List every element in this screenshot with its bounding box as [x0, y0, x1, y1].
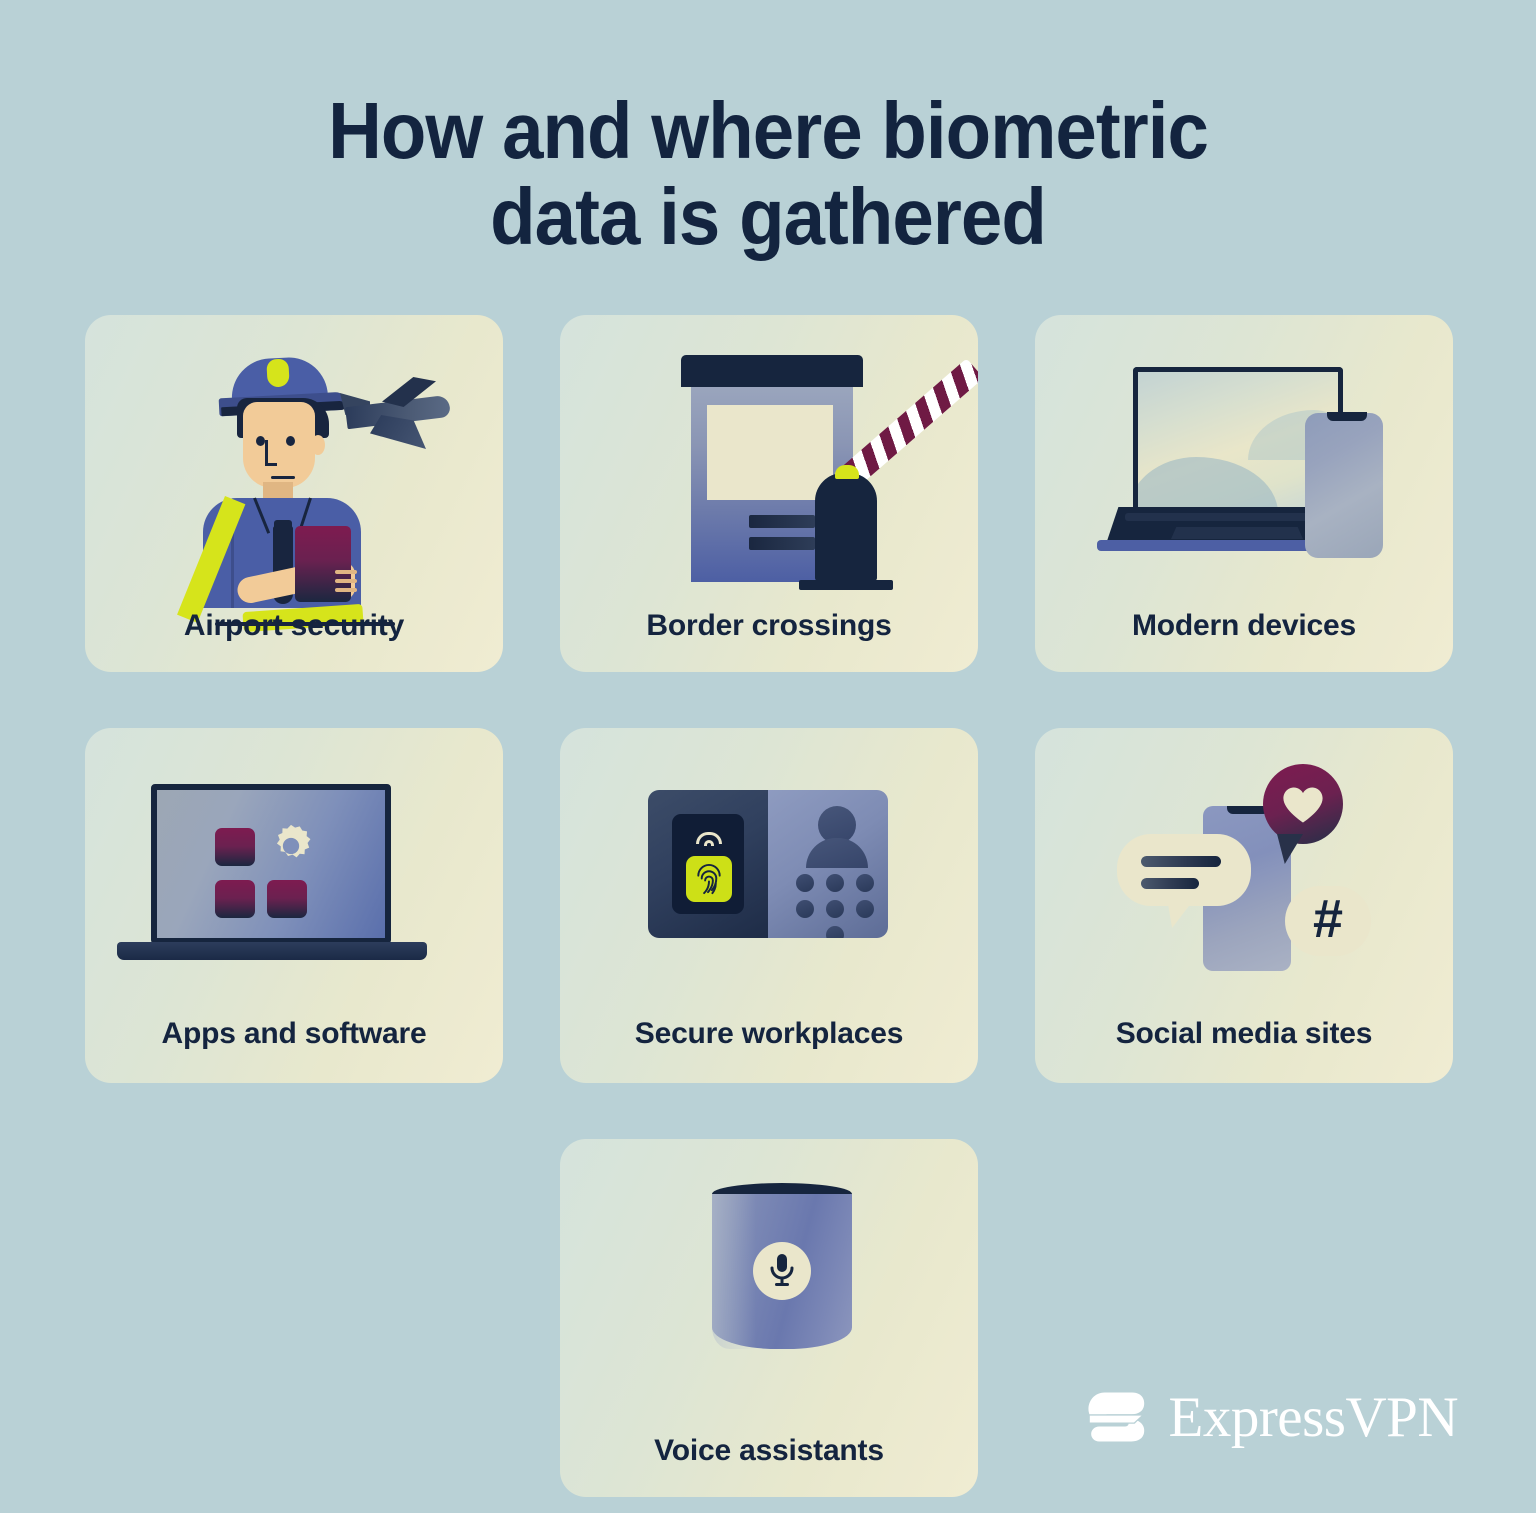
- eye-left: [256, 436, 265, 446]
- security-officer-airplane-icon: [85, 315, 503, 600]
- booth-slot-2: [749, 537, 815, 550]
- keypad-key[interactable]: [826, 926, 844, 938]
- card-secure-workplaces: Secure workplaces: [560, 728, 978, 1083]
- hashtag-bubble-icon: #: [1285, 886, 1371, 956]
- keypad-key[interactable]: [826, 874, 844, 892]
- panel-left-scanner: [648, 790, 768, 938]
- card-grid: Airport security Border crossings: [85, 315, 1455, 1497]
- chat-bubble-icon: [1117, 834, 1251, 906]
- app-tile-1: [215, 828, 255, 866]
- card-border-crossings: Border crossings: [560, 315, 978, 672]
- app-tile-2: [215, 880, 255, 918]
- devices-illustration: [1093, 367, 1403, 572]
- page-title-line-2: data is gathered: [54, 174, 1482, 260]
- card-voice-assistants: Voice assistants: [560, 1139, 978, 1497]
- panel-right-keypad: [768, 790, 888, 938]
- keypad[interactable]: [796, 874, 878, 926]
- card-social-media-sites: # Social media sites: [1035, 728, 1453, 1083]
- card-modern-devices: Modern devices: [1035, 315, 1453, 672]
- page-title-line-1: How and where biometric: [54, 88, 1482, 174]
- fingers: [335, 566, 359, 600]
- smart-speaker: [712, 1183, 852, 1358]
- card-airport-security: Airport security: [85, 315, 503, 672]
- app-tile-3: [267, 880, 307, 918]
- smart-speaker-microphone-icon: [560, 1139, 978, 1424]
- fingerprint-access-panel-icon: [560, 728, 978, 1013]
- scanner-surface: [672, 814, 744, 914]
- laptop-illustration: [117, 784, 472, 969]
- keypad-key[interactable]: [796, 874, 814, 892]
- barrier-light: [835, 465, 859, 479]
- laptop-trackpad: [1171, 527, 1303, 539]
- mouth: [271, 476, 295, 479]
- card-label: Modern devices: [1035, 609, 1453, 643]
- nose: [265, 440, 268, 466]
- booth-slot-1: [749, 515, 815, 528]
- person-body-icon: [806, 838, 868, 868]
- ear: [311, 435, 325, 455]
- border-booth: [677, 355, 867, 585]
- airplane-icon: [340, 373, 458, 453]
- access-control-panel: [648, 790, 888, 938]
- card-label: Apps and software: [85, 1017, 503, 1051]
- laptop-screen: [151, 784, 391, 944]
- smartphone: [1305, 413, 1383, 558]
- keypad-key[interactable]: [796, 900, 814, 918]
- expressvpn-logo: ExpressVPN: [1083, 1383, 1459, 1451]
- nfc-waves-icon: [694, 828, 724, 846]
- gear-icon: [267, 822, 315, 870]
- social-illustration: #: [1117, 764, 1377, 994]
- expressvpn-wordmark: ExpressVPN: [1169, 1385, 1459, 1450]
- keypad-key[interactable]: [856, 900, 874, 918]
- booth-window: [707, 405, 833, 500]
- card-label: Secure workplaces: [560, 1017, 978, 1051]
- cap-badge: [266, 358, 289, 387]
- fingerprint-icon: [686, 856, 732, 902]
- card-label: Voice assistants: [560, 1434, 978, 1468]
- card-label: Social media sites: [1035, 1017, 1453, 1051]
- laptop-base: [117, 942, 427, 960]
- laptop-app-tiles-gear-icon: [85, 728, 503, 1013]
- expressvpn-e-mark-icon: [1083, 1383, 1151, 1451]
- booth-roof: [681, 355, 863, 387]
- phone-chat-heart-hashtag-icon: #: [1035, 728, 1453, 1013]
- microphone-icon: [753, 1242, 811, 1300]
- border-booth-barrier-icon: [560, 315, 978, 600]
- card-label: Airport security: [85, 609, 503, 643]
- laptop-phone-icon: [1035, 315, 1453, 600]
- chat-line-2: [1141, 878, 1199, 889]
- card-apps-and-software: Apps and software: [85, 728, 503, 1083]
- heart-pin-icon: [1263, 764, 1343, 844]
- eye-right: [286, 436, 295, 446]
- page-title: How and where biometric data is gathered: [54, 0, 1482, 261]
- barrier-base: [815, 473, 877, 581]
- chat-line-1: [1141, 856, 1221, 867]
- keypad-key[interactable]: [826, 900, 844, 918]
- card-label: Border crossings: [560, 609, 978, 643]
- keypad-key[interactable]: [856, 874, 874, 892]
